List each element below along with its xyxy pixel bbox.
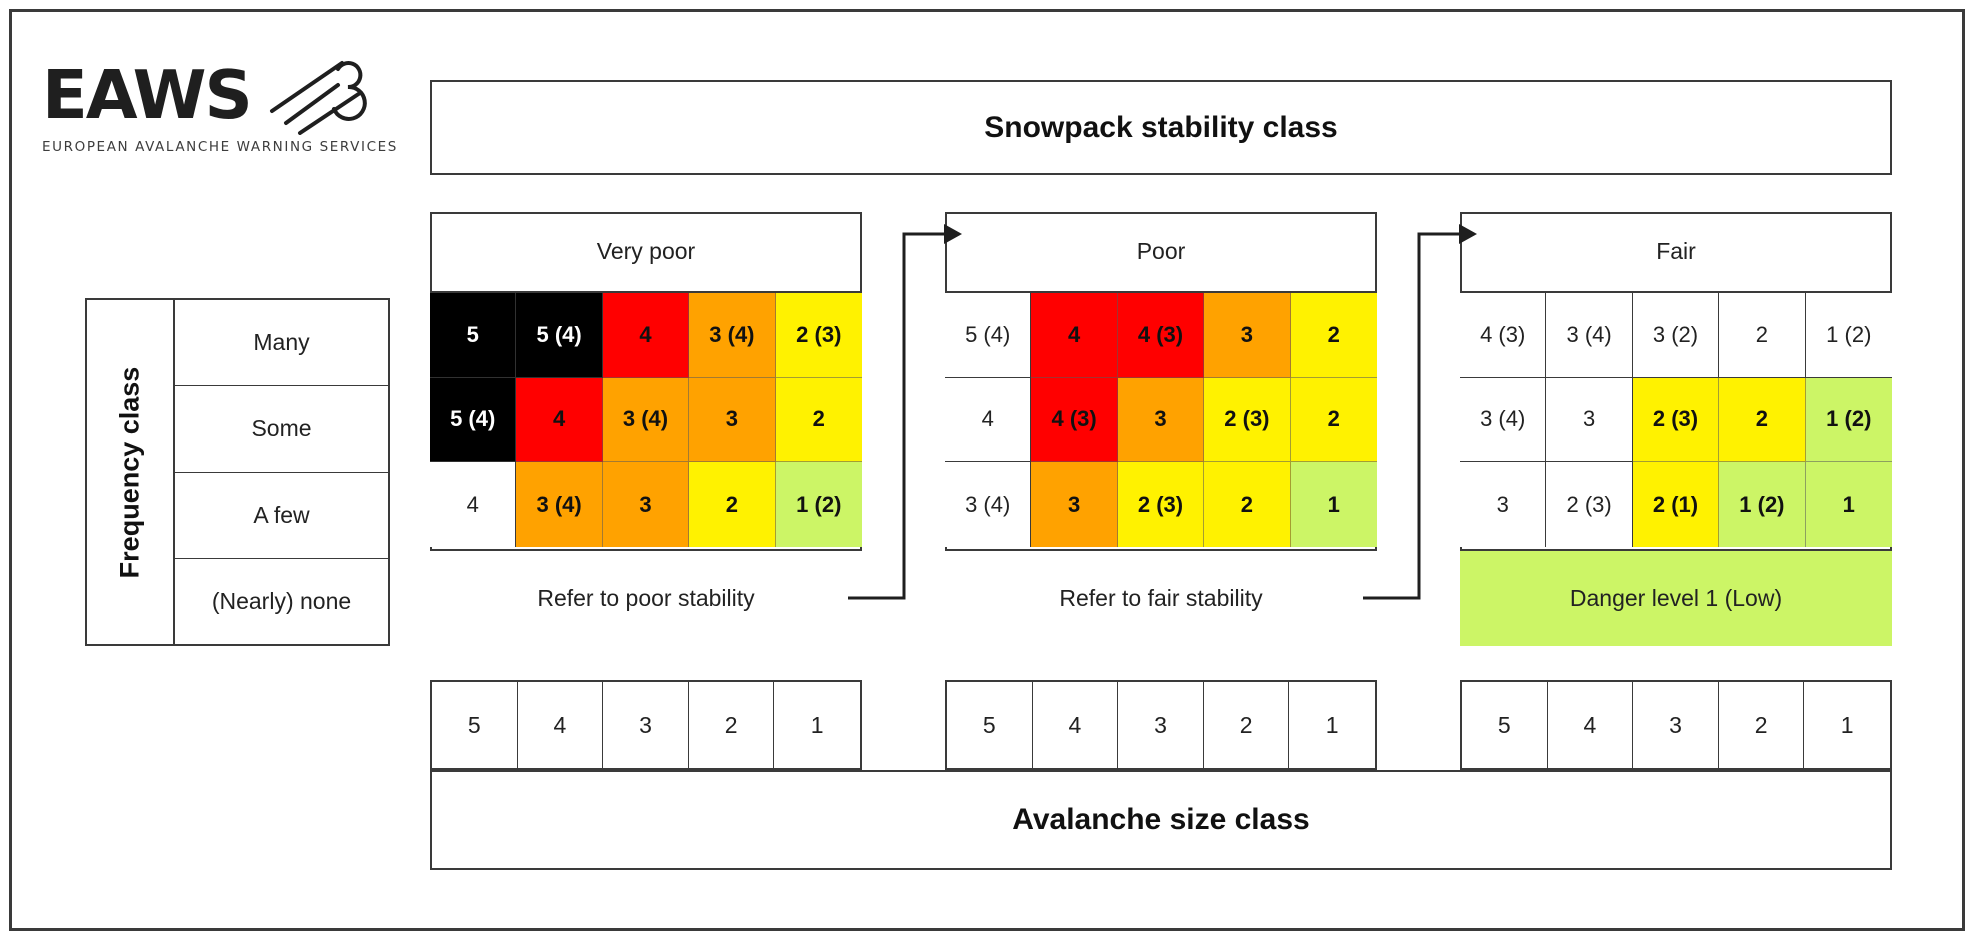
danger-cell: 2 (3)	[1546, 462, 1632, 547]
avalanche-slope-icon	[264, 49, 374, 135]
danger-cell: 1 (2)	[1806, 378, 1892, 463]
size-class-cell: 5	[1462, 682, 1548, 768]
danger-level-grid: 55 (4)43 (4)2 (3)5 (4)43 (4)3243 (4)321 …	[430, 293, 862, 547]
frequency-class-row: A few	[175, 473, 388, 559]
danger-cell: 3	[1204, 293, 1290, 378]
danger-cell: 2 (3)	[1118, 462, 1204, 547]
stability-panel-poor: Poor5 (4)44 (3)3244 (3)32 (3)23 (4)32 (3…	[945, 212, 1377, 646]
frequency-class-rows: ManySomeA few(Nearly) none	[175, 300, 388, 644]
avalanche-size-class-banner: Avalanche size class	[430, 770, 1892, 870]
logo-mark: EAWS	[42, 55, 372, 135]
size-class-cell: 4	[518, 682, 604, 768]
panel-footer: Refer to poor stability	[430, 549, 862, 646]
danger-cell: 2	[1719, 378, 1805, 463]
size-class-cell: 5	[432, 682, 518, 768]
size-class-cell: 2	[1719, 682, 1805, 768]
frequency-class-table: Frequency class ManySomeA few(Nearly) no…	[85, 298, 390, 646]
danger-cell: 2 (1)	[1633, 462, 1719, 547]
frequency-class-title-cell: Frequency class	[87, 300, 175, 644]
danger-cell: 4	[603, 293, 689, 378]
danger-cell: 5 (4)	[945, 293, 1031, 378]
danger-cell: 3	[1546, 378, 1632, 463]
danger-cell: 4 (3)	[1118, 293, 1204, 378]
danger-cell: 4	[516, 378, 602, 463]
danger-cell: 2 (3)	[776, 293, 862, 378]
danger-cell: 2 (3)	[1204, 378, 1290, 463]
danger-cell: 3 (4)	[945, 462, 1031, 547]
danger-cell: 3 (4)	[1460, 378, 1546, 463]
danger-cell: 2	[1719, 293, 1805, 378]
frequency-class-title: Frequency class	[115, 366, 146, 578]
danger-cell: 2	[1204, 462, 1290, 547]
danger-cell: 5	[430, 293, 516, 378]
danger-cell: 4	[430, 462, 516, 547]
size-class-cell: 4	[1033, 682, 1119, 768]
size-class-cell: 5	[947, 682, 1033, 768]
frequency-class-row: Many	[175, 300, 388, 386]
danger-cell: 2	[1291, 378, 1377, 463]
danger-cell: 4	[945, 378, 1031, 463]
panel-title: Very poor	[430, 212, 862, 293]
danger-cell: 3	[1031, 462, 1117, 547]
danger-cell: 3 (4)	[516, 462, 602, 547]
size-class-cell: 3	[1633, 682, 1719, 768]
panel-footer: Refer to fair stability	[945, 549, 1377, 646]
size-class-cell: 2	[1204, 682, 1290, 768]
danger-cell: 3	[689, 378, 775, 463]
panel-title: Fair	[1460, 212, 1892, 293]
logo-subtitle: EUROPEAN AVALANCHE WARNING SERVICES	[42, 139, 372, 155]
danger-cell: 3	[1460, 462, 1546, 547]
frequency-class-row: (Nearly) none	[175, 559, 388, 644]
avalanche-size-class-strip: 54321	[1460, 680, 1892, 770]
avalanche-size-class-strip: 54321	[945, 680, 1377, 770]
danger-cell: 5 (4)	[430, 378, 516, 463]
danger-cell: 3 (4)	[689, 293, 775, 378]
danger-cell: 2	[689, 462, 775, 547]
danger-cell: 1 (2)	[1806, 293, 1892, 378]
danger-cell: 1 (2)	[776, 462, 862, 547]
danger-cell: 3	[1118, 378, 1204, 463]
danger-cell: 3 (2)	[1633, 293, 1719, 378]
danger-cell: 2 (3)	[1633, 378, 1719, 463]
danger-matrix-page: EAWS EUROPEAN AVALANCHE WARNING SERVICES…	[0, 0, 1974, 945]
snowpack-stability-class-banner: Snowpack stability class	[430, 80, 1892, 175]
danger-cell: 1	[1806, 462, 1892, 547]
size-class-cell: 3	[603, 682, 689, 768]
danger-cell: 1 (2)	[1719, 462, 1805, 547]
danger-cell: 4 (3)	[1460, 293, 1546, 378]
size-class-cell: 4	[1548, 682, 1634, 768]
frequency-class-row: Some	[175, 386, 388, 472]
size-class-cell: 1	[1289, 682, 1375, 768]
stability-panel-very-poor: Very poor55 (4)43 (4)2 (3)5 (4)43 (4)324…	[430, 212, 862, 646]
danger-cell: 5 (4)	[516, 293, 602, 378]
danger-cell: 1	[1291, 462, 1377, 547]
danger-cell: 3 (4)	[603, 378, 689, 463]
size-class-cell: 1	[1804, 682, 1890, 768]
size-class-cell: 3	[1118, 682, 1204, 768]
avalanche-size-class-strip: 54321	[430, 680, 862, 770]
panel-footer: Danger level 1 (Low)	[1460, 549, 1892, 646]
danger-cell: 3	[603, 462, 689, 547]
danger-cell: 4	[1031, 293, 1117, 378]
danger-cell: 3 (4)	[1546, 293, 1632, 378]
danger-level-grid: 4 (3)3 (4)3 (2)21 (2)3 (4)32 (3)21 (2)32…	[1460, 293, 1892, 547]
panel-title: Poor	[945, 212, 1377, 293]
danger-cell: 4 (3)	[1031, 378, 1117, 463]
danger-level-grid: 5 (4)44 (3)3244 (3)32 (3)23 (4)32 (3)21	[945, 293, 1377, 547]
eaws-logo: EAWS EUROPEAN AVALANCHE WARNING SERVICES	[42, 55, 372, 165]
stability-panel-fair: Fair4 (3)3 (4)3 (2)21 (2)3 (4)32 (3)21 (…	[1460, 212, 1892, 646]
size-class-cell: 2	[689, 682, 775, 768]
danger-cell: 2	[776, 378, 862, 463]
danger-cell: 2	[1291, 293, 1377, 378]
size-class-cell: 1	[774, 682, 860, 768]
